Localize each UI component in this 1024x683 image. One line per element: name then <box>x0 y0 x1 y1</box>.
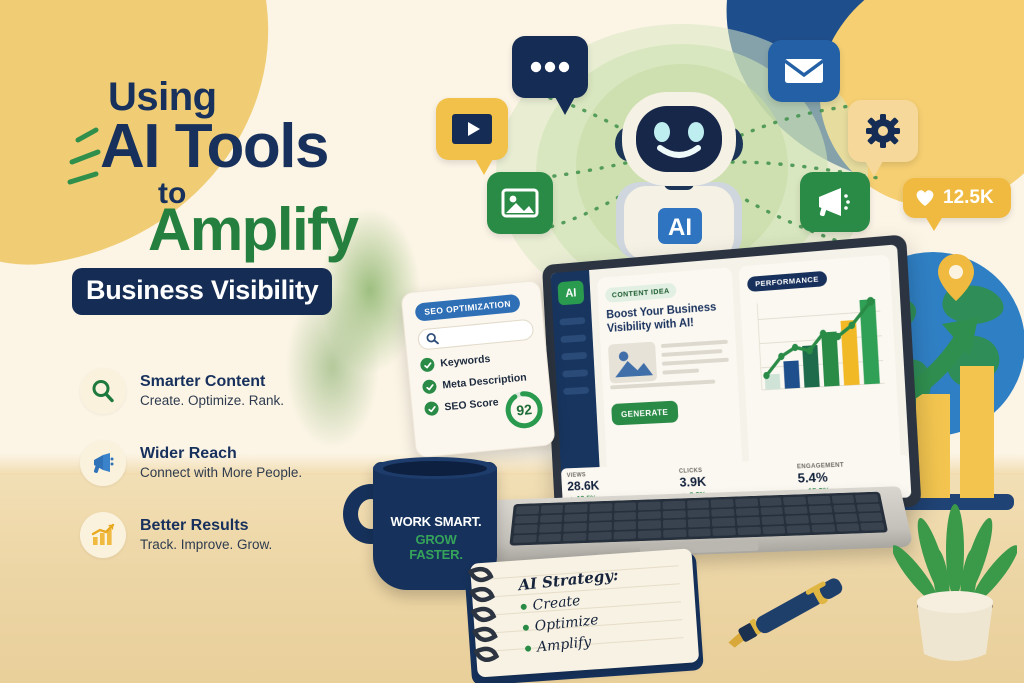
seo-search-input[interactable] <box>417 319 534 351</box>
mug-interior <box>383 461 487 476</box>
feature-item: Wider Reach Connect with More People. <box>80 440 370 486</box>
gear-icon <box>848 100 918 162</box>
ai-robot-mascot: AI <box>600 82 758 272</box>
mug-text-line-2: GROW FASTER. <box>389 532 483 562</box>
seo-item-label: Keywords <box>440 353 491 370</box>
feature-title: Smarter Content <box>140 373 284 391</box>
laptop-base <box>485 486 914 562</box>
image-placeholder-icon <box>608 341 657 383</box>
bullet-icon <box>520 604 527 611</box>
notepad: AI Strategy: Create Optimize Amplify <box>464 552 704 683</box>
app-logo[interactable]: AI <box>557 280 584 305</box>
generate-button[interactable]: GENERATE <box>611 400 678 425</box>
bullet-icon <box>523 624 530 631</box>
search-icon <box>425 332 439 346</box>
seo-score-ring: 92 <box>501 387 547 433</box>
potted-plant <box>893 498 1017 673</box>
laptop-lid: AI CONTENT IDEA Boost Your Business Visi… <box>542 234 922 517</box>
growth-chart-icon <box>80 512 126 558</box>
laptop-screen: AI CONTENT IDEA Boost Your Business Visi… <box>551 244 912 508</box>
email-icon <box>768 40 840 102</box>
robot-chest-label: AI <box>668 214 692 241</box>
seo-item-label: SEO Score <box>444 396 499 413</box>
performance-chart <box>748 290 888 396</box>
headline-line-4: Amplify <box>148 201 432 258</box>
sidebar-menu-item[interactable] <box>560 334 586 343</box>
sidebar-menu-item[interactable] <box>563 387 589 395</box>
video-play-icon <box>436 98 508 160</box>
feature-list: Smarter Content Create. Optimize. Rank. … <box>80 368 370 584</box>
heart-icon <box>914 188 936 208</box>
likes-badge: 12.5K <box>903 178 1011 218</box>
megaphone-icon <box>80 440 126 486</box>
headline-banner: Business Visibility <box>72 268 332 315</box>
seo-item-label: Meta Description <box>442 371 527 391</box>
laptop-keyboard[interactable] <box>509 492 888 546</box>
check-icon <box>424 401 439 416</box>
content-idea-lines <box>661 336 730 380</box>
feature-title: Wider Reach <box>140 445 302 463</box>
image-icon <box>487 172 553 234</box>
feature-title: Better Results <box>140 517 272 535</box>
check-icon <box>422 379 437 394</box>
headline-block: Using AI Tools to Amplify Business Visib… <box>72 78 432 315</box>
check-icon <box>420 357 435 372</box>
sparkle-icon <box>64 124 120 190</box>
mug-text-line-1: WORK SMART. <box>389 514 483 529</box>
headline-line-2: AI Tools <box>100 117 432 177</box>
infographic-canvas: Using AI Tools to Amplify Business Visib… <box>0 0 1024 683</box>
notepad-content: AI Strategy: Create Optimize Amplify <box>517 566 625 657</box>
likes-count: 12.5K <box>943 187 994 209</box>
bullet-icon <box>525 645 532 652</box>
chat-bubble-icon <box>512 36 588 98</box>
seo-badge: SEO OPTIMIZATION <box>414 294 520 322</box>
feature-item: Better Results Track. Improve. Grow. <box>80 512 370 558</box>
feature-subtitle: Connect with More People. <box>140 464 302 482</box>
sidebar-menu-item[interactable] <box>559 317 585 326</box>
performance-badge: PERFORMANCE <box>747 271 828 292</box>
content-idea-badge: CONTENT IDEA <box>605 283 677 303</box>
content-idea-title: Boost Your Business Visibility with AI! <box>606 301 727 337</box>
magnifier-icon <box>80 368 126 414</box>
sidebar-menu-item[interactable] <box>561 352 587 360</box>
seo-optimization-card: SEO OPTIMIZATION Keywords Meta Descripti… <box>400 280 555 459</box>
feature-item: Smarter Content Create. Optimize. Rank. <box>80 368 370 414</box>
seo-score-value: 92 <box>516 401 533 418</box>
megaphone-icon <box>800 172 870 232</box>
feature-subtitle: Track. Improve. Grow. <box>140 536 272 554</box>
content-idea-body <box>608 336 730 383</box>
feature-subtitle: Create. Optimize. Rank. <box>140 392 284 410</box>
sidebar-menu-item[interactable] <box>562 369 588 377</box>
seo-check-row: Keywords <box>420 347 537 372</box>
